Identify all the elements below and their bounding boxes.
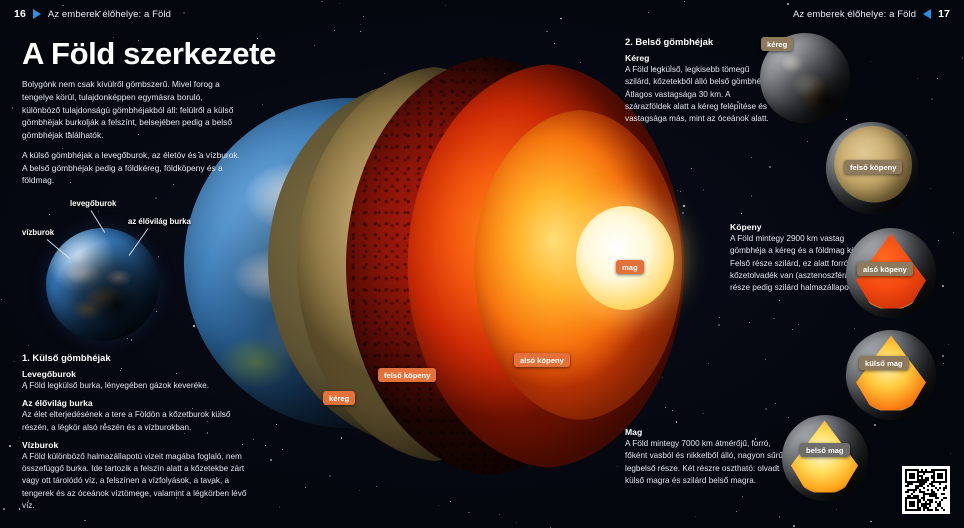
page-number-left: 16 [14,8,26,20]
header-left-title: Az emberek élőhelye: a Föld [48,9,171,20]
subheading-hydrosphere: Vízburok [22,440,254,450]
subheading-crust: Kéreg [625,53,775,63]
text-core: A Föld mintegy 7000 km átmérőjű, forró, … [625,438,785,487]
label-atmosphere: levegőburok [70,199,116,208]
section-core: Mag A Föld mintegy 7000 km átmérőjű, for… [625,427,785,487]
label-hydrosphere: vízburok [22,228,54,237]
subheading-biosphere: Az élővilág burka [22,398,254,408]
header-right-title: Az emberek élőhelye: a Föld [793,9,916,20]
section-inner-shells: 2. Belső gömbhéjak Kéreg A Föld legkülső… [625,36,775,125]
page-title: A Föld szerkezete [22,36,276,72]
globe-label-inner-core: belső mag [800,443,850,457]
triangle-right-icon [33,9,41,19]
globe-label-crust: kéreg [761,37,793,51]
section-outer-heading: 1. Külső gömbhéjak [22,352,254,363]
section-outer-shells: 1. Külső gömbhéjak Levegőburok A Föld le… [22,352,254,512]
globe-label-lower-mantle: alsó köpeny [857,262,913,276]
page-number-right: 17 [938,8,950,20]
subheading-mantle: Köpeny [730,222,880,232]
shell-inner-core [576,206,674,310]
intro-paragraph-2: A külső gömbhéjak a levegőburok, az élet… [22,149,240,187]
cutaway-label-lower-mantle: alsó köpeny [514,353,570,367]
text-crust: A Föld legkülső, legkisebb tömegű szilár… [625,64,775,125]
section-inner-heading: 2. Belső gömbhéjak [625,36,775,47]
text-biosphere: Az élet elterjedésének a tere a Földön a… [22,409,254,434]
header-right: Az emberek élőhelye: a Föld 17 [793,5,950,23]
intro-text: Bolygónk nem csak kívülről gömbszerű. Mi… [22,78,240,187]
text-atmosphere: A Föld legkülső burka, lényegében gázok … [22,380,254,392]
header-left: 16 Az emberek élőhelye: a Föld [14,5,171,23]
label-biosphere: az élővilág burka [128,217,191,226]
cutaway-label-upper-mantle: felső köpeny [378,368,436,382]
cutaway-label-crust: kéreg [323,391,355,405]
earth-small-globe [46,228,159,341]
globe-label-outer-core: külső mag [859,356,909,370]
earth-cutaway-illustration: kéreg felső köpeny alsó köpeny mag [178,28,688,498]
globe-label-upper-mantle: felső köpeny [844,160,902,174]
intro-paragraph-1: Bolygónk nem csak kívülről gömbszerű. Mi… [22,78,240,142]
cutaway-label-core: mag [616,260,644,274]
qr-code-icon[interactable] [902,466,950,514]
text-hydrosphere: A Föld különböző halmazállapotú vizeit m… [22,451,254,512]
subheading-core: Mag [625,427,785,437]
subheading-atmosphere: Levegőburok [22,369,254,379]
page-spread: 16 Az emberek élőhelye: a Föld Az embere… [0,0,964,528]
triangle-left-icon [923,9,931,19]
